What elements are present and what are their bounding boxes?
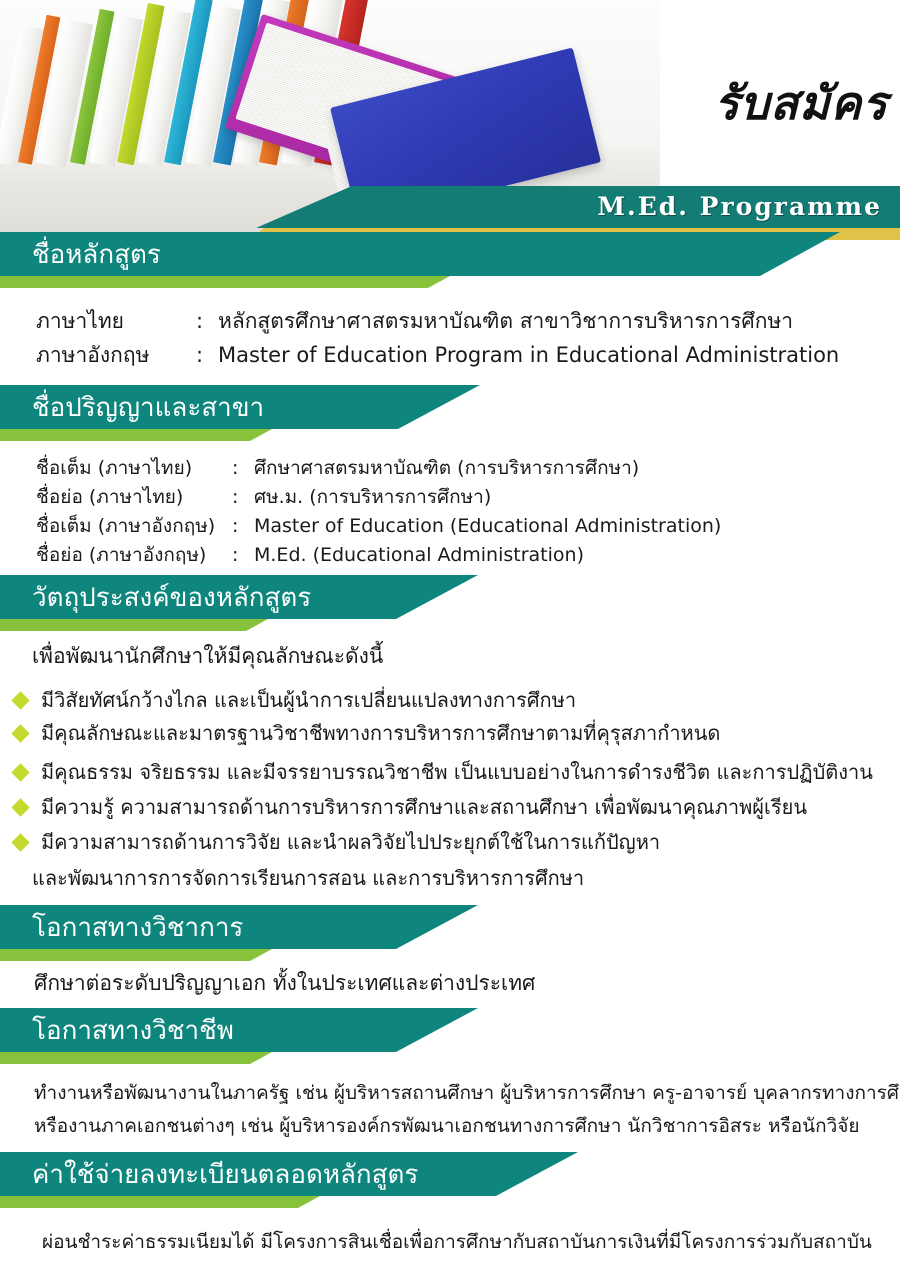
diamond-bullet-icon xyxy=(11,763,29,781)
section-title-career-opportunity: โอกาสทางวิชาชีพ xyxy=(32,1011,234,1051)
diamond-bullet-icon xyxy=(11,798,29,816)
row-value: Master of Education Program in Education… xyxy=(218,340,839,370)
row-value: หลักสูตรศึกษาศาสตรมหาบัณฑิต สาขาวิชาการบ… xyxy=(218,306,793,336)
banner-green-shape xyxy=(0,276,900,288)
row-program-name-english: ภาษาอังกฤษ : Master of Education Program… xyxy=(36,340,839,370)
row-degree-full-thai: ชื่อเต็ม (ภาษาไทย) : ศึกษาศาสตรมหาบัณฑิต… xyxy=(36,454,639,482)
hero-title: รับสมัคร xyxy=(714,80,888,126)
bullet-text: มีความสามารถด้านการวิจัย และนำผลวิจัยไปป… xyxy=(41,828,660,856)
row-value: ศึกษาศาสตรมหาบัณฑิต (การบริหารการศึกษา) xyxy=(254,454,639,482)
banner-green-shape xyxy=(0,949,900,961)
banner-green-shape xyxy=(0,429,900,441)
row-program-name-thai: ภาษาไทย : หลักสูตรศึกษาศาสตรมหาบัณฑิต สา… xyxy=(36,306,793,336)
section-title-tuition: ค่าใช้จ่ายลงทะเบียนตลอดหลักสูตร xyxy=(32,1155,418,1195)
brochure-page: รับสมัคร M.Ed. Programme ชื่อหลักสูตร ภา… xyxy=(0,0,900,1272)
row-label: ภาษาไทย xyxy=(36,306,196,336)
diamond-bullet-icon xyxy=(11,691,29,709)
row-label: ชื่อย่อ (ภาษาไทย) xyxy=(36,483,232,511)
objective-bullet-2: มีคุณลักษณะและมาตรฐานวิชาชีพทางการบริหาร… xyxy=(14,719,720,747)
row-label: ชื่อเต็ม (ภาษาไทย) xyxy=(36,454,232,482)
row-degree-full-english: ชื่อเต็ม (ภาษาอังกฤษ) : Master of Educat… xyxy=(36,512,721,540)
row-colon: : xyxy=(232,454,254,482)
row-degree-abbr-english: ชื่อย่อ (ภาษาอังกฤษ) : M.Ed. (Educationa… xyxy=(36,541,584,569)
diamond-bullet-icon xyxy=(11,833,29,851)
section-banner-tuition: ค่าใช้จ่ายลงทะเบียนตลอดหลักสูตร xyxy=(0,1152,900,1208)
section-title-objectives: วัตถุประสงค์ของหลักสูตร xyxy=(32,578,311,618)
objective-bullet-5-continuation: และพัฒนาการการจัดการเรียนการสอน และการบร… xyxy=(32,864,584,892)
row-colon: : xyxy=(232,541,254,569)
objectives-intro: เพื่อพัฒนานักศึกษาให้มีคุณลักษณะดังนี้ xyxy=(32,641,383,671)
section-title-degree-name: ชื่อปริญญาและสาขา xyxy=(32,388,264,428)
objective-bullet-1: มีวิสัยทัศน์กว้างไกล และเป็นผู้นำการเปลี… xyxy=(14,686,576,714)
bullet-text: มีความรู้ ความสามารถด้านการบริหารการศึกษ… xyxy=(41,793,807,821)
career-opportunity-line-2: หรืองานภาคเอกชนต่างๆ เช่น ผู้บริหารองค์ก… xyxy=(34,1112,860,1140)
banner-green-shape xyxy=(0,1052,900,1064)
row-degree-abbr-thai: ชื่อย่อ (ภาษาไทย) : ศษ.ม. (การบริหารการศ… xyxy=(36,483,491,511)
banner-green-shape xyxy=(0,1196,900,1208)
row-value: Master of Education (Educational Adminis… xyxy=(254,512,721,540)
row-colon: : xyxy=(232,483,254,511)
diamond-bullet-icon xyxy=(11,724,29,742)
academic-opportunity-line-1: ศึกษาต่อระดับปริญญาเอก ทั้งในประเทศและต่… xyxy=(34,968,535,998)
banner-green-shape xyxy=(0,619,900,631)
row-colon: : xyxy=(232,512,254,540)
section-title-program-name: ชื่อหลักสูตร xyxy=(32,235,161,275)
objective-bullet-4: มีความรู้ ความสามารถด้านการบริหารการศึกษ… xyxy=(14,793,807,821)
section-banner-objectives: วัตถุประสงค์ของหลักสูตร xyxy=(0,575,900,631)
row-label: ภาษาอังกฤษ xyxy=(36,340,196,370)
section-banner-academic-opportunity: โอกาสทางวิชาการ xyxy=(0,905,900,961)
row-colon: : xyxy=(196,306,218,336)
programme-band-label: M.Ed. Programme xyxy=(597,192,882,221)
objective-bullet-3: มีคุณธรรม จริยธรรม และมีจรรยาบรรณวิชาชีพ… xyxy=(14,758,873,786)
bullet-text: มีคุณลักษณะและมาตรฐานวิชาชีพทางการบริหาร… xyxy=(41,719,720,747)
section-banner-career-opportunity: โอกาสทางวิชาชีพ xyxy=(0,1008,900,1064)
section-banner-program-name: ชื่อหลักสูตร xyxy=(0,232,900,288)
row-label: ชื่อเต็ม (ภาษาอังกฤษ) xyxy=(36,512,232,540)
bullet-text: มีวิสัยทัศน์กว้างไกล และเป็นผู้นำการเปลี… xyxy=(41,686,576,714)
objective-bullet-5: มีความสามารถด้านการวิจัย และนำผลวิจัยไปป… xyxy=(14,828,660,856)
bullet-text: มีคุณธรรม จริยธรรม และมีจรรยาบรรณวิชาชีพ… xyxy=(41,758,873,786)
hero-header: รับสมัคร M.Ed. Programme xyxy=(0,0,900,240)
tuition-line-1: ผ่อนชำระค่าธรรมเนียมได้ มีโครงการสินเชื่… xyxy=(42,1228,872,1256)
row-value: M.Ed. (Educational Administration) xyxy=(254,541,584,569)
row-label: ชื่อย่อ (ภาษาอังกฤษ) xyxy=(36,541,232,569)
row-value: ศษ.ม. (การบริหารการศึกษา) xyxy=(254,483,491,511)
career-opportunity-line-1: ทำงานหรือพัฒนางานในภาครัฐ เช่น ผู้บริหาร… xyxy=(34,1079,900,1107)
section-title-academic-opportunity: โอกาสทางวิชาการ xyxy=(32,908,243,948)
section-banner-degree-name: ชื่อปริญญาและสาขา xyxy=(0,385,900,441)
row-colon: : xyxy=(196,340,218,370)
